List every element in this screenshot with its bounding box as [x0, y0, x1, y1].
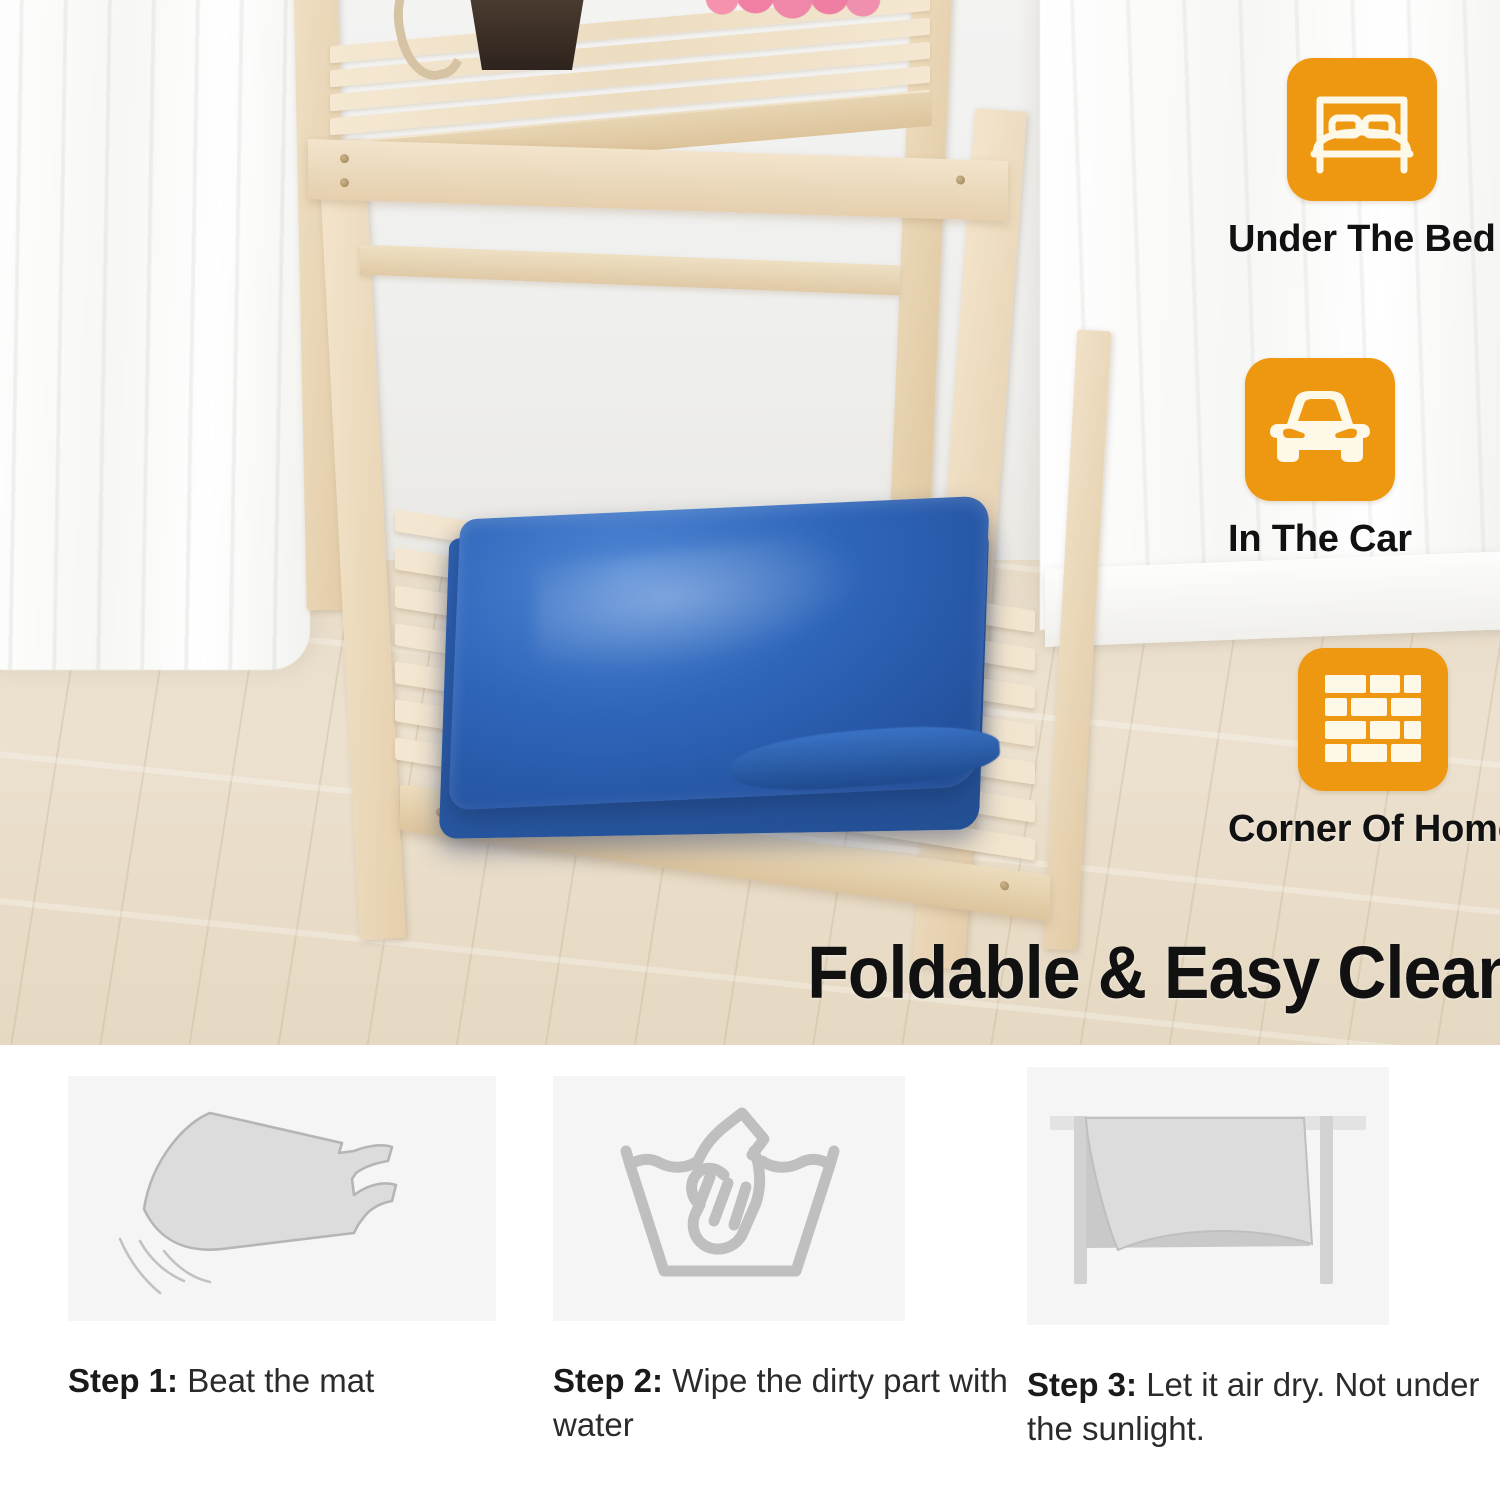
car-icon	[1267, 388, 1373, 472]
brick-wall-icon	[1323, 673, 1423, 767]
hand-wash-basin-icon	[612, 1099, 847, 1299]
step-caption: Step 1: Beat the mat	[68, 1359, 523, 1403]
feature-icon-tile	[1245, 358, 1395, 501]
step-label: Step 1:	[68, 1362, 178, 1399]
feature-label: Under The Bed	[1228, 218, 1496, 261]
product-photo: Under The Bed In The Car	[0, 0, 1500, 1045]
feature-icon-tile	[1298, 648, 1448, 791]
hanging-mat-drying-icon	[1048, 1096, 1368, 1296]
rope-toy	[700, 0, 885, 24]
step-item: Step 1: Beat the mat	[68, 1076, 523, 1403]
bed-icon	[1310, 82, 1414, 178]
step-caption: Step 2: Wipe the dirty part with water	[553, 1359, 1008, 1446]
step-illustration-panel	[68, 1076, 496, 1321]
step-illustration-panel	[1027, 1067, 1389, 1325]
step-item: Step 3: Let it air dry. Not under the su…	[1027, 1067, 1482, 1450]
step-label: Step 2:	[553, 1362, 663, 1399]
step-caption: Step 3: Let it air dry. Not under the su…	[1027, 1363, 1482, 1450]
step-label: Step 3:	[1027, 1366, 1137, 1403]
feature-under-the-bed[interactable]: Under The Bed	[1228, 58, 1496, 261]
blue-folded-mat	[430, 500, 1000, 850]
shaking-mat-icon	[92, 1091, 472, 1306]
feature-corner-of-home[interactable]: Corner Of Home	[1228, 648, 1500, 851]
feature-in-the-car[interactable]: In The Car	[1228, 358, 1412, 561]
feature-icon-tile	[1287, 58, 1437, 201]
step-body: Beat the mat	[187, 1362, 374, 1399]
mat-highlight	[534, 528, 867, 686]
step-illustration-panel	[553, 1076, 905, 1321]
curtain-left	[0, 0, 310, 670]
feature-label: In The Car	[1228, 518, 1412, 561]
infographic-page: Under The Bed In The Car	[0, 0, 1500, 1500]
cleaning-steps-section: Step 1: Beat the mat	[0, 1045, 1500, 1500]
headline: Foldable & Easy Cleaning	[807, 930, 1488, 1015]
step-item: Step 2: Wipe the dirty part with water	[553, 1076, 1008, 1446]
feature-label: Corner Of Home	[1228, 808, 1500, 851]
